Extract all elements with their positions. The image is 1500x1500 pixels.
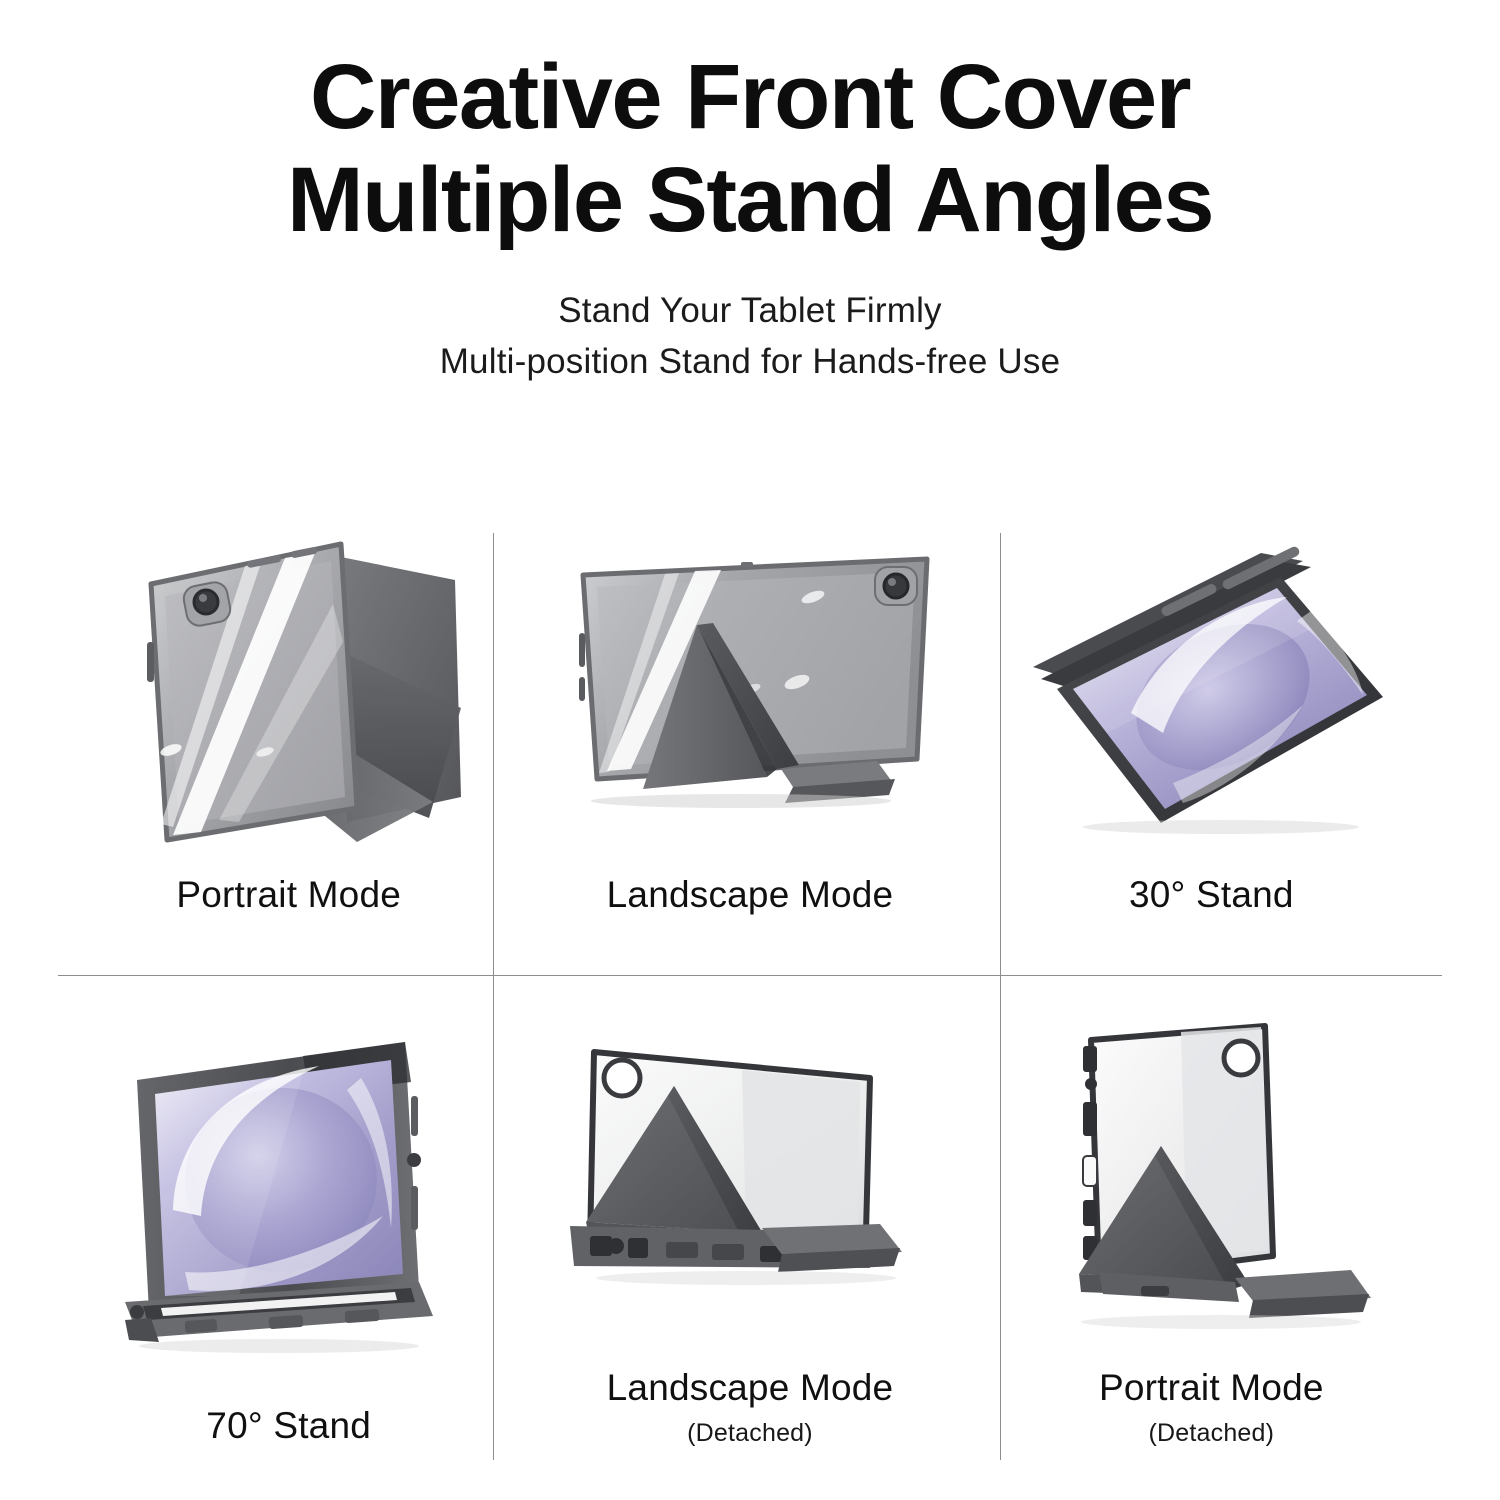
- product-feature-page: Creative Front Cover Multiple Stand Angl…: [0, 0, 1500, 1500]
- page-title: Creative Front Cover Multiple Stand Angl…: [0, 46, 1500, 252]
- cell-caption: 70° Stand: [206, 1405, 371, 1460]
- subtitle-line-1: Stand Your Tablet Firmly: [0, 286, 1500, 337]
- illustration-screen-high-angle: [58, 975, 519, 1405]
- shell-portrait-svg: [1021, 1006, 1401, 1336]
- cell-caption: Portrait Mode: [176, 874, 401, 975]
- camera-icon: [181, 580, 232, 628]
- cell-landscape-mode-detached: Landscape Mode (Detached): [519, 975, 980, 1460]
- caption-text: 30° Stand: [1129, 874, 1294, 915]
- illustration-shell-portrait: [981, 975, 1442, 1367]
- cell-portrait-mode: Portrait Mode: [58, 500, 519, 975]
- cell-portrait-mode-detached: Portrait Mode (Detached): [981, 975, 1442, 1460]
- camera-icon: [875, 567, 917, 605]
- illustration-shell-landscape: [519, 975, 980, 1367]
- header: Creative Front Cover Multiple Stand Angl…: [0, 0, 1500, 388]
- tablet-back-portrait-svg: [89, 522, 489, 852]
- caption-text: Portrait Mode: [176, 874, 401, 915]
- caption-subtext: (Detached): [607, 1419, 894, 1448]
- tablet-screen-30-svg: [1011, 537, 1411, 837]
- cell-landscape-mode: Landscape Mode: [519, 500, 980, 975]
- camera-cutout-icon: [604, 1060, 640, 1096]
- subtitle-line-2: Multi-position Stand for Hands-free Use: [0, 337, 1500, 388]
- page-subtitle: Stand Your Tablet Firmly Multi-position …: [0, 286, 1500, 388]
- camera-cutout-icon: [1224, 1041, 1258, 1075]
- cell-caption: Landscape Mode: [607, 874, 894, 975]
- caption-text: Landscape Mode: [607, 874, 894, 915]
- title-line-1: Creative Front Cover: [0, 46, 1500, 149]
- stand-modes-grid: Portrait Mode: [58, 500, 1442, 1460]
- title-line-2: Multiple Stand Angles: [0, 149, 1500, 252]
- tablet-screen-70-svg: [89, 1020, 489, 1360]
- caption-text: 70° Stand: [206, 1405, 371, 1446]
- cell-stand-70: 70° Stand: [58, 975, 519, 1460]
- cell-caption: 30° Stand: [1129, 874, 1294, 975]
- cell-caption: Portrait Mode (Detached): [1099, 1367, 1324, 1460]
- illustration-back-portrait-tilted: [58, 500, 519, 874]
- illustration-back-landscape-stand: [519, 500, 980, 874]
- caption-text: Landscape Mode: [607, 1367, 894, 1408]
- caption-text: Portrait Mode: [1099, 1367, 1324, 1408]
- illustration-screen-low-angle: [981, 500, 1442, 874]
- cell-caption: Landscape Mode (Detached): [607, 1367, 894, 1460]
- tablet-back-landscape-svg: [545, 537, 955, 837]
- caption-subtext: (Detached): [1099, 1419, 1324, 1448]
- cell-stand-30: 30° Stand: [981, 500, 1442, 975]
- shell-landscape-svg: [550, 1026, 950, 1316]
